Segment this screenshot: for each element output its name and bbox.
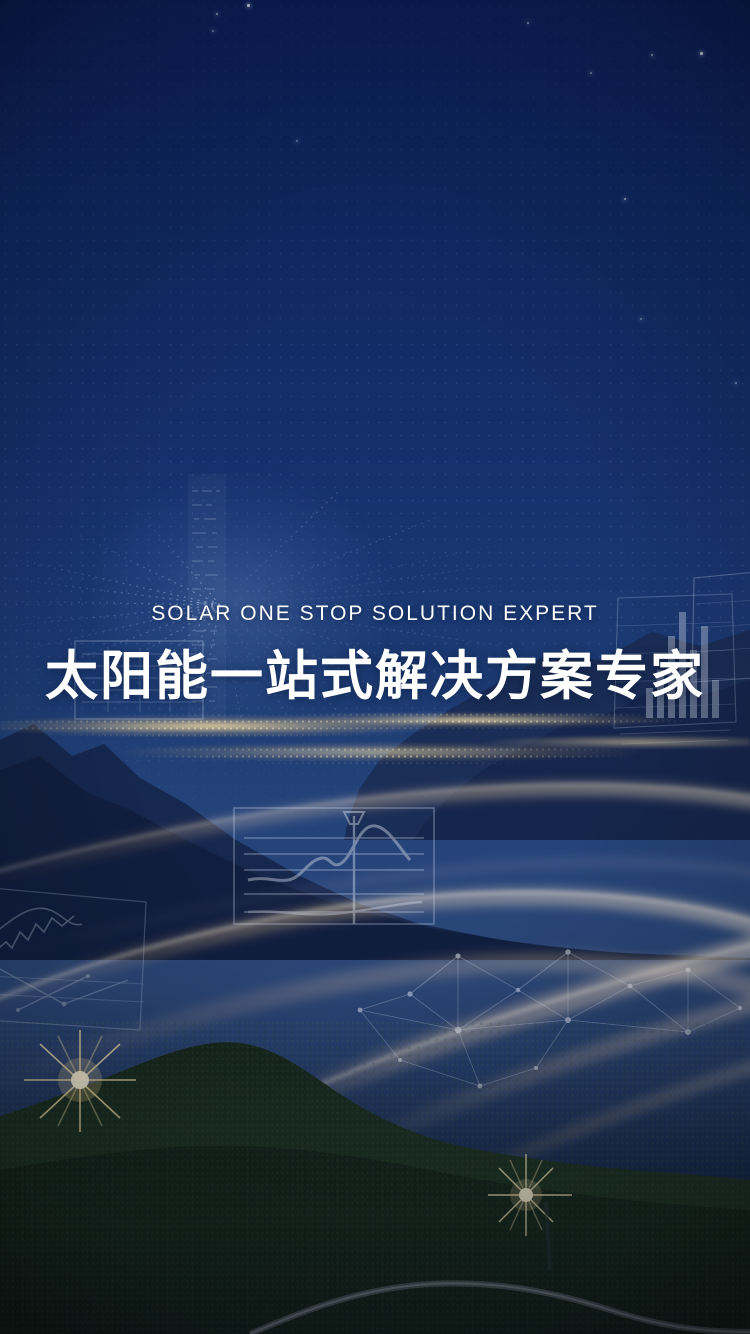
hero-headline: 太阳能一站式解决方案专家 bbox=[0, 646, 750, 708]
line-chart-widget bbox=[232, 790, 450, 950]
hero-text-block: SOLAR ONE STOP SOLUTION EXPERT 太阳能一站式解决方… bbox=[0, 600, 750, 708]
area-chart-widget bbox=[0, 880, 158, 1050]
lens-flare bbox=[480, 1140, 640, 1280]
hero-banner: SOLAR ONE STOP SOLUTION EXPERT 太阳能一站式解决方… bbox=[0, 0, 750, 1334]
hero-subtitle: SOLAR ONE STOP SOLUTION EXPERT bbox=[0, 600, 750, 628]
